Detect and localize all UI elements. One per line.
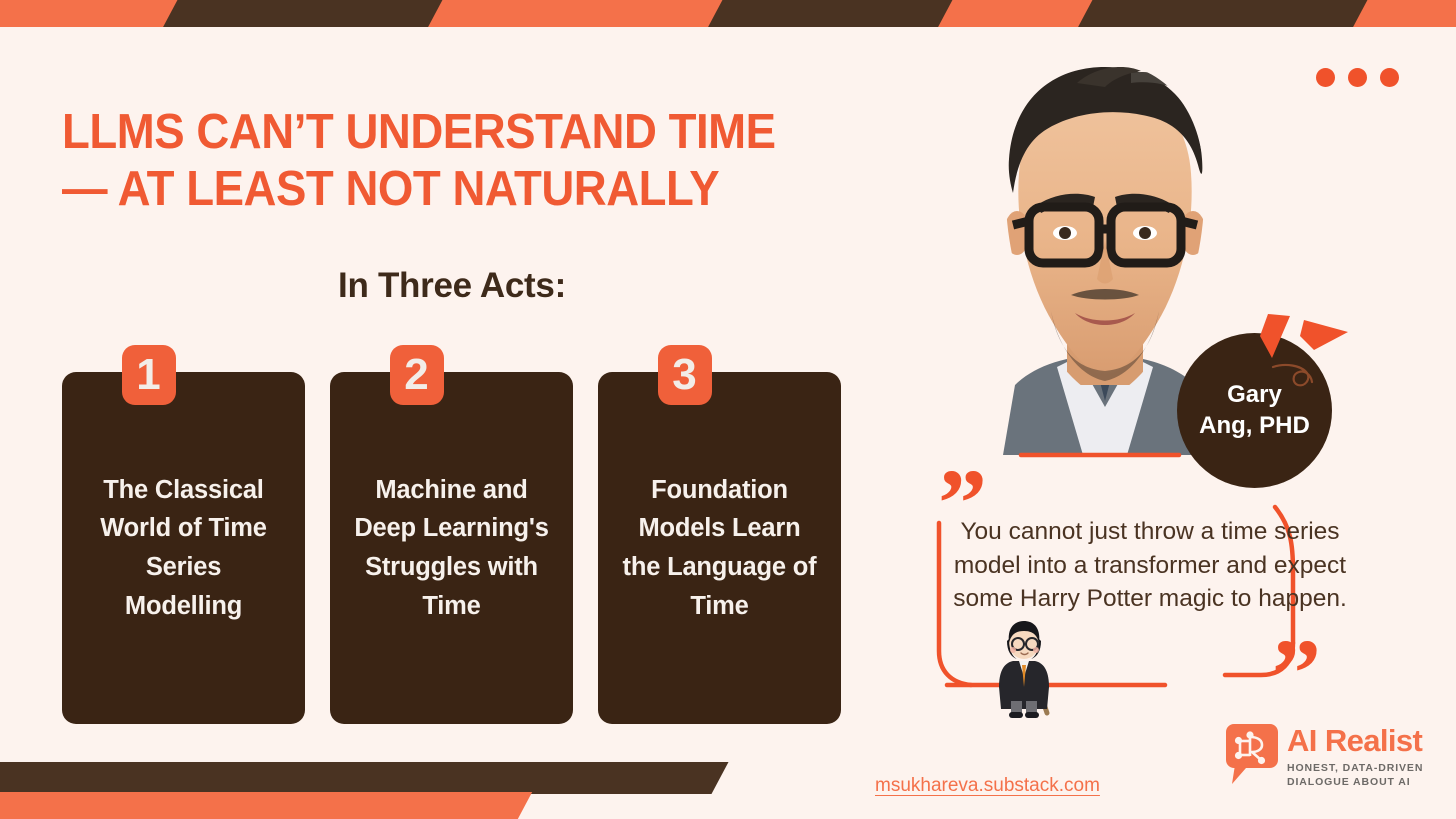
swirl-decor-icon: [1271, 361, 1315, 397]
act-card-2[interactable]: 2 Machine and Deep Learning's Struggles …: [330, 372, 573, 724]
act-card-title: The Classical World of Time Series Model…: [84, 471, 283, 626]
logo-text-block: AI Realist HONEST, DATA-DRIVEN DIALOGUE …: [1287, 723, 1423, 790]
page-title: LLMS CAN’T UNDERSTAND TIME — AT LEAST NO…: [62, 104, 843, 218]
logo-tagline-line-2: DIALOGUE ABOUT AI: [1287, 775, 1423, 789]
quote-text: You cannot just throw a time series mode…: [950, 515, 1350, 616]
logo-tagline: HONEST, DATA-DRIVEN DIALOGUE ABOUT AI: [1287, 761, 1423, 790]
logo-tagline-line-1: HONEST, DATA-DRIVEN: [1287, 761, 1423, 775]
ai-realist-bubble-icon: [1226, 723, 1278, 785]
act-card-1[interactable]: 1 The Classical World of Time Series Mod…: [62, 372, 305, 724]
page-title-line-2: — AT LEAST NOT NATURALLY: [62, 161, 843, 218]
act-number-badge: 3: [658, 345, 712, 405]
author-name-line-2: Ang, PHD: [1199, 412, 1310, 439]
act-card-title: Machine and Deep Learning's Struggles wi…: [352, 471, 551, 626]
poster-canvas: LLMS CAN’T UNDERSTAND TIME — AT LEAST NO…: [0, 0, 1456, 819]
act-number-badge: 2: [390, 345, 444, 405]
brand-logo[interactable]: AI Realist HONEST, DATA-DRIVEN DIALOGUE …: [1226, 723, 1423, 790]
bottom-orange-band: [0, 792, 532, 819]
substack-url-link[interactable]: msukhareva.substack.com: [875, 775, 1100, 797]
top-stripe-chevron: [160, 0, 444, 27]
act-card-title: Foundation Models Learn the Language of …: [620, 471, 819, 626]
quote-close-mark: ”: [1272, 625, 1321, 723]
act-number-badge: 1: [122, 345, 176, 405]
act-card-list: 1 The Classical World of Time Series Mod…: [62, 372, 841, 724]
wizard-character-icon: [993, 617, 1055, 719]
page-subtitle: In Three Acts:: [62, 266, 842, 306]
dot-icon: [1348, 68, 1367, 87]
top-stripe-chevron: [1075, 0, 1369, 27]
bottom-brown-band: [0, 762, 729, 794]
top-stripe-band: [0, 0, 1456, 27]
decor-dots: [1316, 68, 1399, 87]
act-card-3[interactable]: 3 Foundation Models Learn the Language o…: [598, 372, 841, 724]
page-title-line-1: LLMS CAN’T UNDERSTAND TIME: [62, 105, 776, 159]
logo-name: AI Realist: [1287, 725, 1423, 756]
top-stripe-chevron: [705, 0, 954, 27]
dot-icon: [1316, 68, 1335, 87]
dot-icon: [1380, 68, 1399, 87]
